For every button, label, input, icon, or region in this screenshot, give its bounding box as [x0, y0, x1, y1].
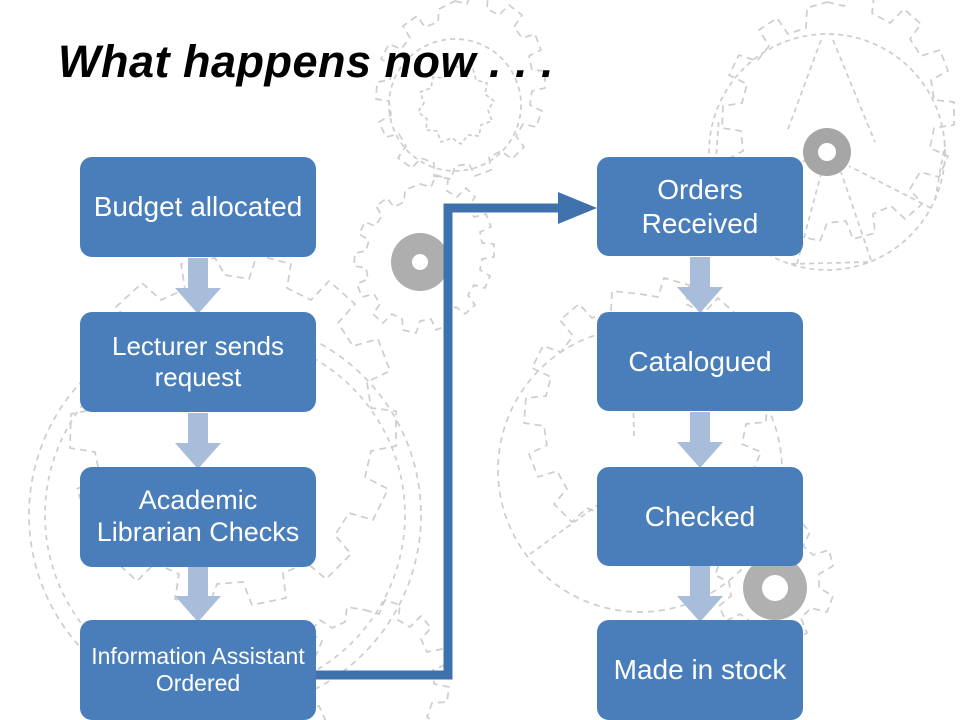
down-arrow-icon	[175, 566, 221, 622]
gear-top-right-hub	[803, 128, 851, 176]
flow-node-lecturer-sends-request[interactable]: Lecturer sends request	[80, 312, 316, 412]
down-arrow-icon	[677, 257, 723, 313]
flow-node-orders-received[interactable]: Orders Received	[597, 157, 803, 256]
down-arrow-icon	[677, 566, 723, 622]
flow-node-label: Academic Librarian Checks	[86, 485, 310, 549]
flow-node-label: Catalogued	[628, 345, 771, 378]
flow-node-information-assistant-ordered[interactable]: Information Assistant Ordered	[80, 620, 316, 720]
flow-node-label: Made in stock	[614, 653, 787, 686]
slide-canvas: What happens now . . . Budget allocated …	[0, 0, 960, 720]
gear-top-center	[376, 0, 545, 179]
elbow-connector-arrow	[300, 190, 610, 690]
flow-node-label: Information Assistant Ordered	[86, 643, 310, 697]
flow-node-budget-allocated[interactable]: Budget allocated	[80, 157, 316, 257]
down-arrow-icon	[677, 412, 723, 468]
flow-node-label: Budget allocated	[94, 190, 303, 223]
flow-node-checked[interactable]: Checked	[597, 467, 803, 566]
flow-node-label: Lecturer sends request	[86, 331, 310, 392]
down-arrow-icon	[175, 258, 221, 314]
flow-node-label: Checked	[645, 500, 756, 533]
flow-node-catalogued[interactable]: Catalogued	[597, 312, 803, 411]
flow-node-made-in-stock[interactable]: Made in stock	[597, 620, 803, 720]
flow-node-label: Orders Received	[603, 173, 797, 239]
flow-node-academic-librarian-checks[interactable]: Academic Librarian Checks	[80, 467, 316, 567]
page-title: What happens now . . .	[58, 36, 554, 88]
down-arrow-icon	[175, 413, 221, 469]
